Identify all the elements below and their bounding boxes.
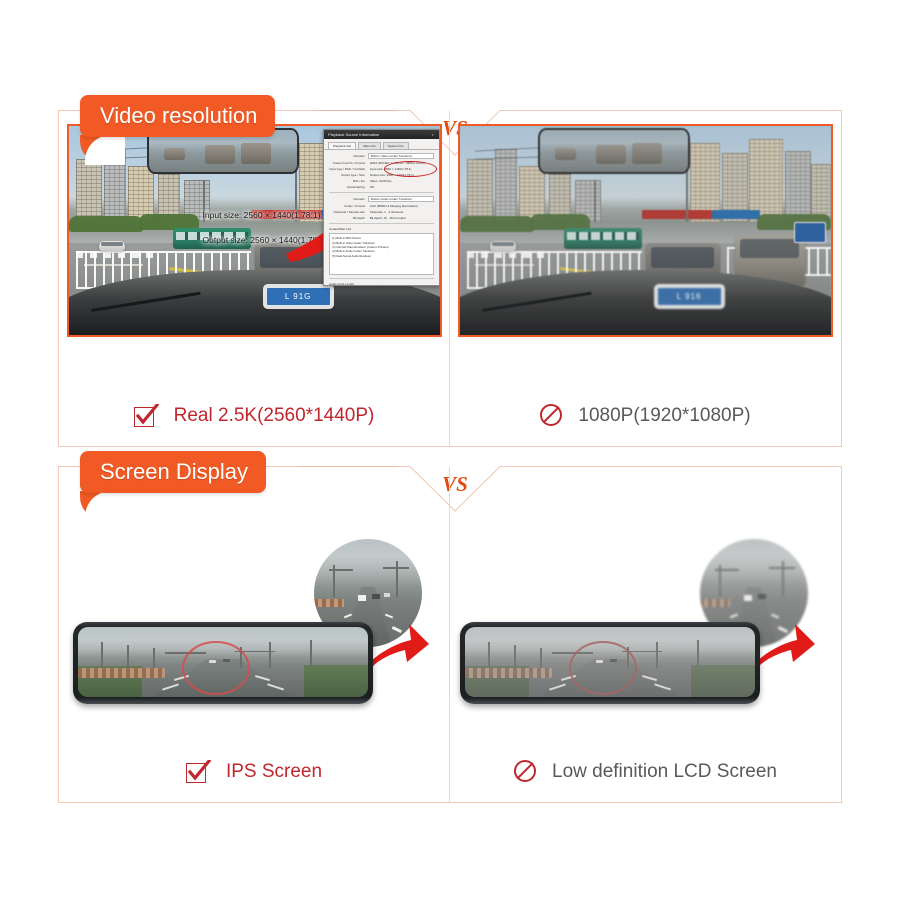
dialog-row: Bits / fps Video: 30.00 fps xyxy=(329,179,434,183)
panels-screen: IPS Screen xyxy=(59,467,841,802)
ribbon-label: Screen Display xyxy=(100,459,248,485)
divider xyxy=(329,223,434,224)
dialog-key: Decoder xyxy=(329,197,365,201)
check-mark-shape xyxy=(134,404,160,428)
treeline xyxy=(139,214,198,230)
dialog-row: Bit depth Bit depth: 16 · 16 bit output xyxy=(329,216,434,220)
dialog-key: Decoder xyxy=(329,154,365,158)
dialog-key: Input type / PAR / Cell Ratio xyxy=(329,167,365,171)
audio-levels-label: Audio Input Levels xyxy=(329,282,434,286)
dialog-row-input-size: Input type / PAR / Cell Ratio Input size… xyxy=(329,167,434,171)
divider xyxy=(329,278,434,279)
dialog-title-text: Playback Source Information xyxy=(328,132,379,137)
street-lamp xyxy=(540,648,542,668)
mirror-car xyxy=(596,145,626,164)
tag-connector-screen xyxy=(300,466,395,467)
check-box-icon xyxy=(134,404,160,428)
caption-2-5k: Real 2.5K(2560*1440P) xyxy=(59,404,449,428)
mirror-dashcam-ips xyxy=(73,622,373,704)
dialog-row: Decoder Built-in Video Codec Transform xyxy=(329,153,434,159)
mirror-car xyxy=(555,148,576,161)
street-lamp xyxy=(153,648,155,668)
guard-barrier xyxy=(78,668,165,678)
building xyxy=(467,159,493,222)
street-lamp xyxy=(656,642,658,667)
audio-levels-text: Audio Input Levels xyxy=(329,282,434,286)
dialog-row: Deinterlacing NO xyxy=(329,185,434,189)
mirror-car xyxy=(241,143,271,164)
dialog-key: Bits / fps xyxy=(329,179,365,183)
mirror-screen-lcd xyxy=(465,627,755,697)
bus xyxy=(564,228,642,249)
dialog-key: Output type / Size xyxy=(329,173,365,177)
street-lamp xyxy=(127,645,129,667)
guard-barrier xyxy=(465,668,552,678)
dialog-value: H264 (ISO/IEC 14496-10 - MPEG-4 AVC) xyxy=(368,161,434,165)
dialog-key: Codec FourCC / Format xyxy=(329,161,365,165)
dialog-value: Channels: 1 · 2 channels xyxy=(368,210,434,214)
dialog-value: Built-in Audio Codec Transform xyxy=(368,196,434,202)
ribbon-video-resolution: Video resolution xyxy=(80,95,275,137)
building xyxy=(495,149,517,222)
caption-text: IPS Screen xyxy=(226,761,322,783)
windshield xyxy=(492,242,514,246)
caption-lcd: Low definition LCD Screen xyxy=(450,760,841,784)
mirror-car xyxy=(164,148,185,161)
mirror-dashcam-lcd xyxy=(460,622,760,704)
panel-screen-right: Low definition LCD Screen xyxy=(450,467,841,802)
close-icon[interactable]: × xyxy=(429,131,436,138)
street-lamp xyxy=(101,642,103,667)
street-lamp xyxy=(514,645,516,667)
dialog-key: Codec / Format xyxy=(329,204,365,208)
building xyxy=(76,159,102,222)
street-lamp xyxy=(310,640,312,668)
inset-gantry xyxy=(769,567,795,569)
inset-car xyxy=(372,594,380,599)
caption-text: Low definition LCD Screen xyxy=(552,761,777,783)
street-lamp xyxy=(488,642,490,667)
infographic-page: VS xyxy=(0,0,900,900)
ban-icon xyxy=(540,404,564,428)
dialog-key: Channels / Sample rate xyxy=(329,210,365,214)
mirror-reflection xyxy=(540,130,688,172)
check-mark-shape xyxy=(186,760,212,784)
dialog-titlebar: Playback Source Information × xyxy=(324,130,439,139)
tag-connector-video xyxy=(318,110,395,111)
inset-barrier xyxy=(700,599,730,607)
dialog-value: AAC (MPEG-4 Merging Decimation) xyxy=(368,204,434,208)
rearview-mirror xyxy=(538,128,690,174)
divider xyxy=(329,192,434,193)
roadside-grass xyxy=(304,665,368,697)
dialog-key: Deinterlacing xyxy=(329,185,365,189)
ribbon-tail-video xyxy=(80,135,120,163)
windshield xyxy=(740,239,799,258)
tab-filter-info[interactable]: Filter Info xyxy=(358,142,381,149)
dialog-value: Built-in Video Codec Transform xyxy=(368,153,434,159)
panel-video-right: L 916 1080P(1920*1080P) xyxy=(450,111,841,446)
license-plate-left: L 91G xyxy=(266,287,331,306)
media-info-dialog[interactable]: Playback Source Information × Playback I… xyxy=(323,129,440,286)
treeline xyxy=(530,214,589,230)
dialog-row: Codec FourCC / Format H264 (ISO/IEC 1449… xyxy=(329,161,434,165)
inset-barrier xyxy=(314,599,344,607)
inset-gantry xyxy=(329,569,353,571)
dialog-value: Video: 30.00 fps xyxy=(368,179,434,183)
dialog-row-output-size: Output type / Size Output size: 2560 × 1… xyxy=(329,173,434,177)
inset-car xyxy=(744,595,752,600)
list-item[interactable]: (5) Dual Sound Audio Renderer xyxy=(332,254,431,258)
dialog-key: Bit depth xyxy=(329,216,365,220)
street-lamp xyxy=(269,642,271,667)
tab-playback-info[interactable]: Playback Info xyxy=(328,142,356,149)
mirror-screen-ips xyxy=(78,627,368,697)
dialog-value-input-size: Input size: 2560 × 1440(1.78:1) xyxy=(368,167,434,171)
inset-dash xyxy=(771,613,779,618)
street-scene-blurry: L 916 xyxy=(460,126,831,335)
ribbon-tail-screen xyxy=(80,491,120,519)
bus-windows xyxy=(567,232,639,240)
ribbon-label: Video resolution xyxy=(100,103,257,129)
inset-gantry xyxy=(383,567,409,569)
utility-pole xyxy=(594,180,596,222)
car-white xyxy=(99,241,125,251)
caption-text: 1080P(1920*1080P) xyxy=(578,405,750,427)
caption-ips: IPS Screen xyxy=(59,760,449,784)
section-video-resolution: VS xyxy=(58,110,842,447)
store-sign xyxy=(642,210,712,219)
ribbon-screen-display: Screen Display xyxy=(80,451,266,493)
car-white xyxy=(490,241,516,251)
dialog-row: Channels / Sample rate Channels: 1 · 2 c… xyxy=(329,210,434,214)
dialog-value-output-size: Output size: 2560 × 1440(1.78:1) xyxy=(368,173,434,177)
tab-system-info[interactable]: System Info xyxy=(383,142,409,149)
ban-icon xyxy=(514,760,538,784)
check-box-icon xyxy=(186,760,212,784)
inset-gantry xyxy=(715,569,739,571)
inset-car xyxy=(384,593,389,597)
inset-dash xyxy=(385,613,393,618)
dialog-value: Bit depth: 16 · 16 bit output xyxy=(368,216,434,220)
dialog-row: Codec / Format AAC (MPEG-4 Merging Decim… xyxy=(329,204,434,208)
inset-car xyxy=(758,594,766,599)
treeline xyxy=(460,216,534,232)
roadside-grass xyxy=(691,665,755,697)
inset-car xyxy=(358,595,366,600)
windshield xyxy=(651,247,713,268)
treeline xyxy=(69,216,143,232)
caption-1080p: 1080P(1920*1080P) xyxy=(450,404,841,428)
building xyxy=(785,151,811,222)
dialog-value: NO xyxy=(368,185,434,189)
dialog-row: Decoder Built-in Audio Codec Transform xyxy=(329,196,434,202)
windshield xyxy=(101,242,123,246)
dialog-list-title: Codec/Filter List xyxy=(329,227,434,231)
inset-dash xyxy=(730,613,738,618)
store-sign xyxy=(712,210,760,219)
list-title-text: Codec/Filter List xyxy=(329,227,434,231)
dialog-tabs[interactable]: Playback Info Filter Info System Info xyxy=(324,139,439,150)
mirror-car xyxy=(632,143,662,164)
inset-dash xyxy=(344,613,352,618)
photo-1080p: L 916 xyxy=(458,124,833,337)
caption-text: Real 2.5K(2560*1440P) xyxy=(174,405,375,427)
license-plate-right: L 916 xyxy=(657,287,722,306)
codec-filter-list[interactable]: (1) Built-in MP4 Source (2) Built-in Vid… xyxy=(329,233,434,275)
panels-video: L 91G Input size: 2560 × 1440(1.78:1) Ou… xyxy=(59,111,841,446)
road-sign xyxy=(794,222,826,243)
section-screen-display: VS xyxy=(58,466,842,803)
mirror-car xyxy=(205,145,235,164)
street-lamp xyxy=(697,640,699,668)
dialog-body: Decoder Built-in Video Codec Transform C… xyxy=(324,150,439,286)
